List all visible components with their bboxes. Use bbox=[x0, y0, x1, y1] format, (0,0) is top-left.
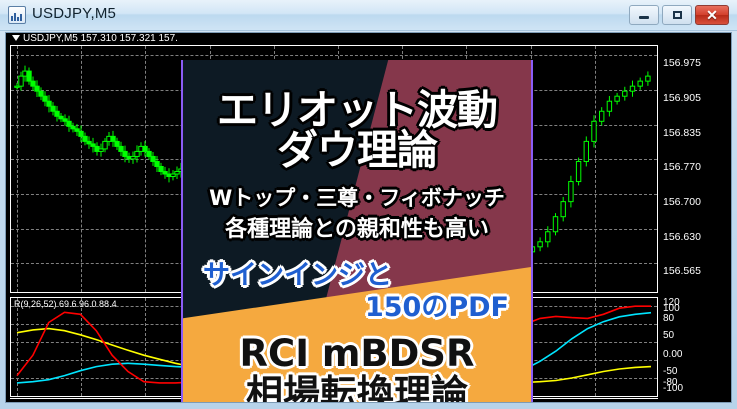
time-tick-label: 28 May 06:25 bbox=[118, 400, 182, 402]
candle-body bbox=[147, 151, 151, 156]
candle-body bbox=[623, 91, 627, 96]
price-tick-label: 156.975 bbox=[663, 57, 701, 69]
metatrader-window: USDJPY,M5 ✕ USDJPY,M5 157.310 157.321 15… bbox=[0, 0, 737, 409]
price-tick-label: 156.770 bbox=[663, 161, 701, 173]
candle-body bbox=[151, 156, 155, 161]
indicator-tick-label: 0.00 bbox=[663, 349, 682, 360]
candle-body bbox=[561, 202, 565, 217]
maximize-button[interactable] bbox=[662, 5, 692, 25]
candle-body bbox=[538, 242, 542, 247]
candle-body bbox=[35, 86, 39, 91]
candle-body bbox=[155, 161, 159, 166]
candle-body bbox=[553, 217, 557, 232]
overlay-subline-2: 各種理論との親和性も高い bbox=[183, 219, 531, 241]
title-bar: USDJPY,M5 ✕ bbox=[0, 0, 737, 31]
price-tick-label: 156.905 bbox=[663, 92, 701, 104]
overlay-footer-2: 相場転換理論 bbox=[183, 375, 531, 402]
candle-body bbox=[51, 106, 55, 111]
close-button[interactable]: ✕ bbox=[695, 5, 729, 25]
indicator-header: R(9,26,52) 69.6 96.0 88.4 bbox=[14, 299, 117, 309]
candle-body bbox=[83, 136, 87, 141]
candle-body bbox=[111, 136, 115, 141]
candle-body bbox=[119, 146, 123, 151]
time-tick-label: 28 May 17:05 bbox=[632, 400, 696, 402]
candle-body bbox=[67, 121, 71, 126]
candle-body bbox=[103, 141, 107, 149]
chart-canvas[interactable]: USDJPY,M5 157.310 157.321 157. R(9,26,52… bbox=[6, 33, 731, 402]
candle-body bbox=[607, 101, 611, 111]
candle-body bbox=[143, 146, 147, 151]
indicator-tick-label: -100 bbox=[663, 383, 683, 394]
minimize-button[interactable] bbox=[629, 5, 659, 25]
overlay-subline-1: Wトップ・三尊・フィボナッチ bbox=[183, 188, 531, 209]
price-tick-label: 156.835 bbox=[663, 127, 701, 139]
chevron-down-icon[interactable] bbox=[12, 35, 20, 41]
indicator-tick-label: 80 bbox=[663, 313, 674, 324]
price-tick-label: 156.565 bbox=[663, 265, 701, 277]
candle-body bbox=[47, 101, 51, 106]
promo-overlay: エリオット波動 ダウ理論 Wトップ・三尊・フィボナッチ 各種理論との親和性も高い… bbox=[181, 60, 533, 402]
candle-body bbox=[43, 96, 47, 101]
candle-body bbox=[584, 141, 588, 161]
maximize-icon bbox=[663, 6, 691, 24]
candle-body bbox=[592, 121, 596, 141]
candle-body bbox=[546, 232, 550, 242]
indicator-tick-label: -50 bbox=[663, 366, 677, 377]
indicator-tick-label: 50 bbox=[663, 330, 674, 341]
chart-symbol-header: USDJPY,M5 157.310 157.321 157. bbox=[12, 33, 178, 44]
candle-body bbox=[79, 131, 83, 136]
time-tick-label: 28 May 15:45 bbox=[568, 400, 632, 402]
candle-body bbox=[159, 166, 163, 171]
overlay-blue-line-1: サインインジと bbox=[183, 262, 531, 289]
close-icon: ✕ bbox=[696, 6, 728, 24]
candle-body bbox=[646, 76, 650, 81]
candle-body bbox=[615, 96, 619, 101]
time-tick-label: 28 May 05:05 bbox=[54, 400, 118, 402]
window-title: USDJPY,M5 bbox=[32, 5, 116, 22]
candle-body bbox=[115, 141, 119, 146]
candle-body bbox=[576, 161, 580, 181]
candle-body bbox=[569, 182, 573, 202]
overlay-headline-1: エリオット波動 bbox=[183, 90, 531, 131]
candle-body bbox=[19, 76, 23, 86]
candle-body bbox=[123, 151, 127, 156]
overlay-footer-1: RCI mBDSR bbox=[183, 335, 531, 372]
candle-body bbox=[55, 111, 59, 116]
candle-body bbox=[39, 91, 43, 96]
price-tick-label: 156.700 bbox=[663, 196, 701, 208]
candle-body bbox=[600, 111, 604, 121]
price-tick-label: 156.630 bbox=[663, 231, 701, 243]
chart-document-icon bbox=[8, 6, 26, 24]
candle-body bbox=[135, 151, 139, 156]
minimize-icon bbox=[630, 6, 658, 24]
candle-body bbox=[638, 81, 642, 86]
indicator-axis: 12010080500.00-50-80-100 bbox=[661, 297, 731, 399]
candle-body bbox=[630, 86, 634, 91]
candle-body bbox=[27, 71, 31, 81]
overlay-blue-line-2: 150のPDF bbox=[183, 294, 531, 321]
candle-body bbox=[31, 81, 35, 86]
overlay-headline-2: ダウ理論 bbox=[183, 130, 531, 171]
chart-client-area[interactable]: USDJPY,M5 157.310 157.321 157. R(9,26,52… bbox=[5, 32, 732, 403]
price-axis: 156.975156.905156.835156.770156.700156.6… bbox=[661, 45, 731, 295]
